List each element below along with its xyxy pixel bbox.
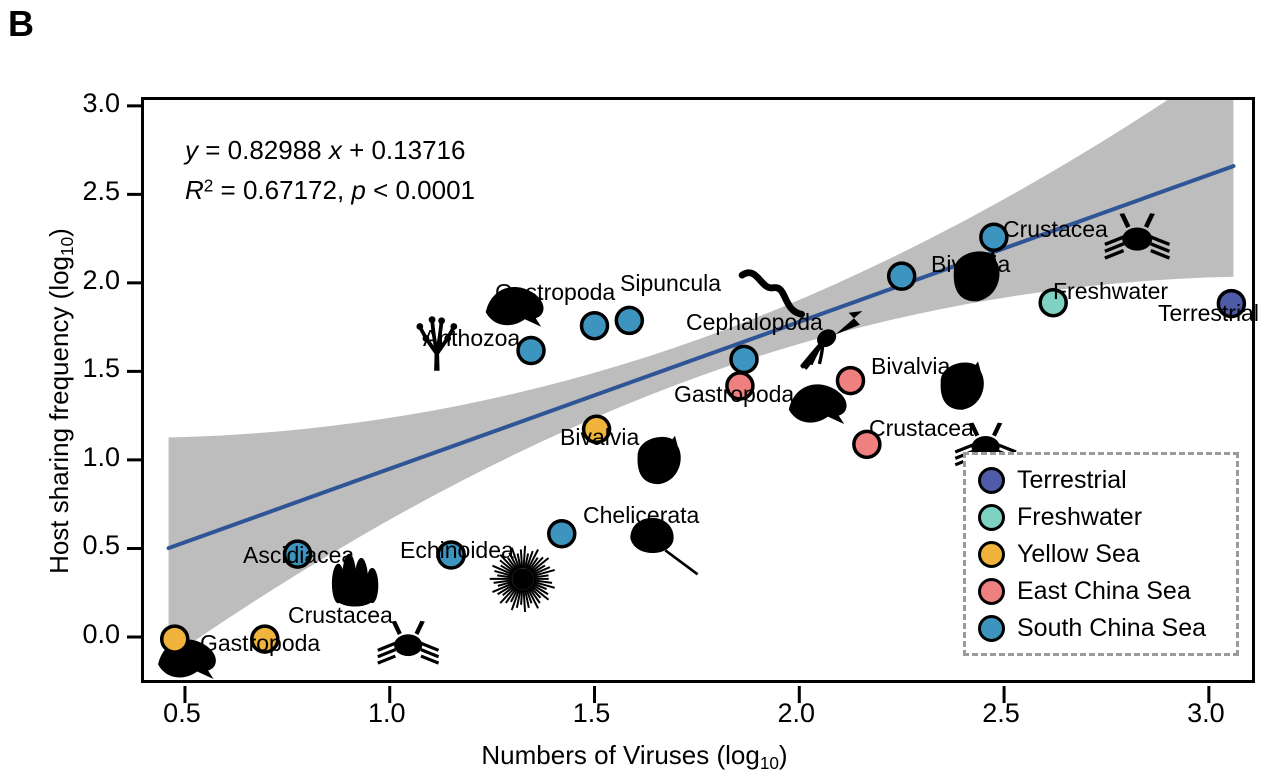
y-tick-label-6: 3.0 bbox=[48, 88, 120, 119]
y-tick-marks bbox=[127, 106, 144, 637]
legend-box: TerrestrialFreshwaterYellow SeaEast Chin… bbox=[963, 452, 1239, 656]
x-axis-title-subscript: 10 bbox=[760, 753, 779, 773]
r-squared-exponent: 2 bbox=[204, 175, 214, 195]
point-label-bivalvia-13: Bivalvia bbox=[931, 251, 1010, 278]
panel-label: B bbox=[8, 6, 34, 42]
point-label-echinoidea-3: Echinoidea bbox=[400, 537, 514, 564]
legend-item-yellow-sea[interactable]: Yellow Sea bbox=[978, 536, 1236, 573]
legend-swatch-freshwater-icon bbox=[978, 504, 1005, 531]
legend-label: South China Sea bbox=[1017, 614, 1206, 643]
p-value-symbol: p bbox=[351, 175, 365, 205]
y-axis-title-text: Host sharing frequency (log bbox=[44, 256, 74, 574]
point-label-bivalvia-11: Bivalvia bbox=[871, 353, 950, 380]
legend-label: Freshwater bbox=[1017, 503, 1142, 532]
figure-panel-b: B Host sharing frequency (log10) Numbers… bbox=[0, 0, 1269, 778]
regression-equation-annotation: y = 0.82988 x + 0.13716 R2 = 0.67172, p … bbox=[185, 131, 475, 210]
equation-coefficient: = 0.82988 bbox=[198, 135, 329, 165]
r-squared-symbol: R bbox=[185, 175, 204, 205]
point-label-gastropoda-10: Gastropoda bbox=[674, 381, 794, 408]
legend-item-freshwater[interactable]: Freshwater bbox=[978, 499, 1236, 536]
equation-x-symbol: x bbox=[329, 135, 342, 165]
legend-swatch-yellow-sea-icon bbox=[978, 541, 1005, 568]
x-tick-marks bbox=[185, 686, 1209, 703]
p-value: < 0.0001 bbox=[366, 175, 475, 205]
equation-line: y = 0.82988 x + 0.13716 bbox=[185, 131, 475, 171]
statistics-line: R2 = 0.67172, p < 0.0001 bbox=[185, 171, 475, 211]
x-axis-title-close: ) bbox=[779, 740, 788, 770]
y-tick-label-4: 2.0 bbox=[48, 265, 120, 296]
legend-label: Yellow Sea bbox=[1017, 540, 1140, 569]
point-label-crustacea-12: Crustacea bbox=[869, 415, 974, 442]
legend-item-terrestrial[interactable]: Terrestrial bbox=[978, 462, 1236, 499]
point-label-bivalvia-5: Bivalvia bbox=[560, 424, 639, 451]
x-axis-title: Numbers of Viruses (log10) bbox=[0, 740, 1269, 774]
y-axis-title-subscript: 10 bbox=[57, 237, 77, 256]
point-label-chelicerata-4: Chelicerata bbox=[583, 502, 699, 529]
point-label-gastropoda-7: Gastropoda bbox=[495, 279, 615, 306]
y-tick-label-0: 0.0 bbox=[48, 619, 120, 650]
legend-item-east-china-sea[interactable]: East China Sea bbox=[978, 573, 1236, 610]
point-label-terrestrial-16: Terrestrial bbox=[1158, 300, 1259, 327]
point-label-cephalopoda-9: Cephalopoda bbox=[686, 309, 823, 336]
y-tick-label-3: 1.5 bbox=[48, 353, 120, 384]
point-label-ascidiacea-2: Ascidiacea bbox=[243, 542, 354, 569]
point-label-anthozoa-6: Anthozoa bbox=[423, 325, 520, 352]
point-label-freshwater-15: Freshwater bbox=[1053, 278, 1168, 305]
point-label-crustacea-1: Crustacea bbox=[288, 602, 393, 629]
legend-label: East China Sea bbox=[1017, 577, 1191, 606]
point-label-crustacea-14: Crustacea bbox=[1003, 216, 1108, 243]
x-axis-title-text: Numbers of Viruses (log bbox=[481, 740, 759, 770]
y-tick-label-5: 2.5 bbox=[48, 176, 120, 207]
equation-intercept: + 0.13716 bbox=[342, 135, 466, 165]
y-tick-label-2: 1.0 bbox=[48, 442, 120, 473]
legend-swatch-east-china-sea-icon bbox=[978, 578, 1005, 605]
y-tick-label-1: 0.5 bbox=[48, 530, 120, 561]
point-label-gastropoda-0: Gastropoda bbox=[200, 630, 320, 657]
r-squared-value: = 0.67172, bbox=[213, 175, 351, 205]
point-label-sipuncula-8: Sipuncula bbox=[620, 270, 721, 297]
legend-item-south-china-sea[interactable]: South China Sea bbox=[978, 610, 1236, 647]
legend-swatch-terrestrial-icon bbox=[978, 467, 1005, 494]
legend-label: Terrestrial bbox=[1017, 466, 1127, 495]
legend-swatch-south-china-sea-icon bbox=[978, 615, 1005, 642]
equation-y-symbol: y bbox=[185, 135, 198, 165]
y-axis-title-close: ) bbox=[44, 228, 74, 237]
